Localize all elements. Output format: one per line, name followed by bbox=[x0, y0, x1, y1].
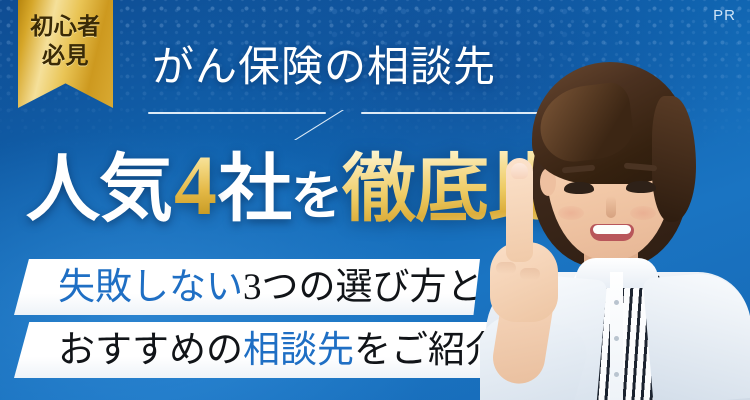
feature-bar-1-highlight: 失敗しない bbox=[58, 267, 243, 308]
model-knuckle bbox=[496, 262, 516, 274]
divider-line-left bbox=[148, 112, 326, 114]
model-fingernail bbox=[511, 163, 528, 179]
model-knuckle bbox=[520, 268, 540, 280]
model-shirt-button bbox=[614, 300, 619, 305]
feature-bar-1-text: 失敗しない3つの選び方と bbox=[58, 269, 480, 306]
subtitle-text: がん保険の相談先 bbox=[152, 47, 496, 89]
headline-particle: を bbox=[291, 169, 342, 226]
feature-bar-2: おすすめの相談先をご紹介 bbox=[14, 322, 490, 378]
headline-number: 4 bbox=[172, 137, 218, 233]
model-photo bbox=[480, 0, 750, 400]
model-blush-right bbox=[630, 206, 656, 220]
feature-bar-2-text: おすすめの相談先をご紹介 bbox=[58, 332, 490, 369]
model-eye-left bbox=[564, 182, 594, 194]
model-blush-left bbox=[558, 206, 584, 220]
beginner-ribbon-badge: 初心者 必見 bbox=[18, 0, 113, 108]
ribbon-line-2: 必見 bbox=[42, 41, 89, 70]
ad-banner[interactable]: PR 初心者 必見 がん保険の相談先 人気4社を徹底比較 失敗しない3つの選び方… bbox=[0, 0, 750, 400]
model-hair-side bbox=[652, 96, 696, 222]
model-eye-right bbox=[626, 181, 656, 193]
headline-part-2: 社 bbox=[218, 149, 291, 231]
model-mouth bbox=[590, 224, 634, 241]
headline-part-1: 人気 bbox=[26, 149, 172, 231]
feature-bar-2-rest: をご紹介 bbox=[354, 330, 490, 371]
divider-slash bbox=[294, 110, 394, 140]
feature-bar-2-lead: おすすめの bbox=[58, 330, 243, 371]
feature-bar-1: 失敗しない3つの選び方と bbox=[14, 259, 480, 315]
ribbon-line-1: 初心者 bbox=[30, 12, 101, 41]
feature-bar-1-rest: 3つの選び方と bbox=[243, 267, 480, 308]
model-shirt-button bbox=[614, 372, 619, 377]
model-jacket-lapel-right bbox=[643, 270, 750, 400]
model-nose bbox=[606, 196, 616, 218]
model-shirt-button bbox=[614, 336, 619, 341]
model-teeth bbox=[593, 225, 631, 234]
feature-bar-2-highlight: 相談先 bbox=[243, 330, 354, 371]
